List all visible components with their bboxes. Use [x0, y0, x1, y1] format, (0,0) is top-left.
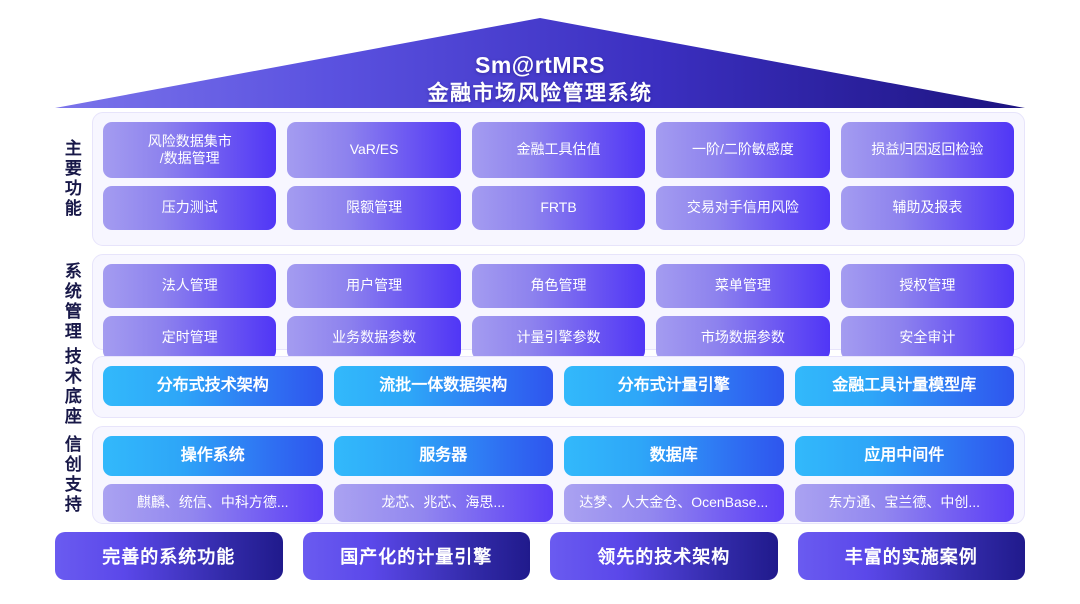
section-main-functions: 主要功能 风险数据集市 /数据管理 VaR/ES 金融工具估值 一阶/二阶敏感度…: [50, 112, 1025, 246]
platform-card[interactable]: 应用中间件: [795, 436, 1015, 476]
feature-card[interactable]: 用户管理: [287, 264, 460, 308]
highlight-banner[interactable]: 领先的技术架构: [550, 532, 778, 580]
feature-card[interactable]: 辅助及报表: [841, 186, 1014, 230]
feature-card[interactable]: 损益归因返回检验: [841, 122, 1014, 178]
highlight-banner[interactable]: 完善的系统功能: [55, 532, 283, 580]
row-system-management-2: 定时管理 业务数据参数 计量引擎参数 市场数据参数 安全审计: [103, 316, 1014, 360]
feature-card[interactable]: VaR/ES: [287, 122, 460, 178]
highlight-banner-row: 完善的系统功能 国产化的计量引擎 领先的技术架构 丰富的实施案例: [55, 532, 1025, 580]
tech-card[interactable]: 分布式技术架构: [103, 366, 323, 406]
feature-card[interactable]: 菜单管理: [656, 264, 829, 308]
platform-card[interactable]: 服务器: [334, 436, 554, 476]
feature-card[interactable]: 安全审计: [841, 316, 1014, 360]
section-tech-foundation: 技术底座 分布式技术架构 流批一体数据架构 分布式计量引擎 金融工具计量模型库: [50, 356, 1025, 418]
tech-card[interactable]: 金融工具计量模型库: [795, 366, 1015, 406]
roof-header: Sm@rtMRS 金融市场风险管理系统: [55, 18, 1025, 108]
row-tech-foundation-1: 分布式技术架构 流批一体数据架构 分布式计量引擎 金融工具计量模型库: [103, 366, 1014, 406]
feature-card[interactable]: FRTB: [472, 186, 645, 230]
row-main-functions-1: 风险数据集市 /数据管理 VaR/ES 金融工具估值 一阶/二阶敏感度 损益归因…: [103, 122, 1014, 178]
feature-card[interactable]: 市场数据参数: [656, 316, 829, 360]
feature-card[interactable]: 计量引擎参数: [472, 316, 645, 360]
vendor-card[interactable]: 龙芯、兆芯、海思...: [334, 484, 554, 522]
row-xinchuang-2: 麒麟、统信、中科方德... 龙芯、兆芯、海思... 达梦、人大金仓、OcenBa…: [103, 484, 1014, 522]
vendor-card[interactable]: 东方通、宝兰德、中创...: [795, 484, 1015, 522]
panel-system-management: 法人管理 用户管理 角色管理 菜单管理 授权管理 定时管理 业务数据参数 计量引…: [92, 254, 1025, 350]
section-system-management: 系统管理 法人管理 用户管理 角色管理 菜单管理 授权管理 定时管理 业务数据参…: [50, 254, 1025, 350]
feature-card[interactable]: 一阶/二阶敏感度: [656, 122, 829, 178]
panel-tech-foundation: 分布式技术架构 流批一体数据架构 分布式计量引擎 金融工具计量模型库: [92, 356, 1025, 418]
feature-card[interactable]: 限额管理: [287, 186, 460, 230]
row-xinchuang-1: 操作系统 服务器 数据库 应用中间件: [103, 436, 1014, 476]
feature-card[interactable]: 风险数据集市 /数据管理: [103, 122, 276, 178]
tech-card[interactable]: 流批一体数据架构: [334, 366, 554, 406]
panel-xinchuang-support: 操作系统 服务器 数据库 应用中间件 麒麟、统信、中科方德... 龙芯、兆芯、海…: [92, 426, 1025, 524]
section-label-xinchuang-support: 信创支持: [50, 426, 92, 524]
platform-card[interactable]: 操作系统: [103, 436, 323, 476]
feature-card[interactable]: 授权管理: [841, 264, 1014, 308]
section-label-main-functions: 主要功能: [50, 112, 92, 246]
row-main-functions-2: 压力测试 限额管理 FRTB 交易对手信用风险 辅助及报表: [103, 186, 1014, 230]
feature-card[interactable]: 交易对手信用风险: [656, 186, 829, 230]
highlight-banner[interactable]: 丰富的实施案例: [798, 532, 1026, 580]
feature-card[interactable]: 定时管理: [103, 316, 276, 360]
feature-card[interactable]: 角色管理: [472, 264, 645, 308]
feature-card[interactable]: 业务数据参数: [287, 316, 460, 360]
feature-card[interactable]: 法人管理: [103, 264, 276, 308]
feature-card[interactable]: 压力测试: [103, 186, 276, 230]
platform-card[interactable]: 数据库: [564, 436, 784, 476]
section-label-system-management: 系统管理: [50, 254, 92, 350]
architecture-diagram: Sm@rtMRS 金融市场风险管理系统 主要功能 风险数据集市 /数据管理 Va…: [0, 0, 1080, 604]
vendor-card[interactable]: 麒麟、统信、中科方德...: [103, 484, 323, 522]
feature-card[interactable]: 金融工具估值: [472, 122, 645, 178]
section-xinchuang-support: 信创支持 操作系统 服务器 数据库 应用中间件 麒麟、统信、中科方德... 龙芯…: [50, 426, 1025, 524]
section-label-tech-foundation: 技术底座: [50, 356, 92, 418]
row-system-management-1: 法人管理 用户管理 角色管理 菜单管理 授权管理: [103, 264, 1014, 308]
highlight-banner[interactable]: 国产化的计量引擎: [303, 532, 531, 580]
tech-card[interactable]: 分布式计量引擎: [564, 366, 784, 406]
panel-main-functions: 风险数据集市 /数据管理 VaR/ES 金融工具估值 一阶/二阶敏感度 损益归因…: [92, 112, 1025, 246]
roof-shape-icon: [55, 18, 1025, 108]
vendor-card[interactable]: 达梦、人大金仓、OcenBase...: [564, 484, 784, 522]
